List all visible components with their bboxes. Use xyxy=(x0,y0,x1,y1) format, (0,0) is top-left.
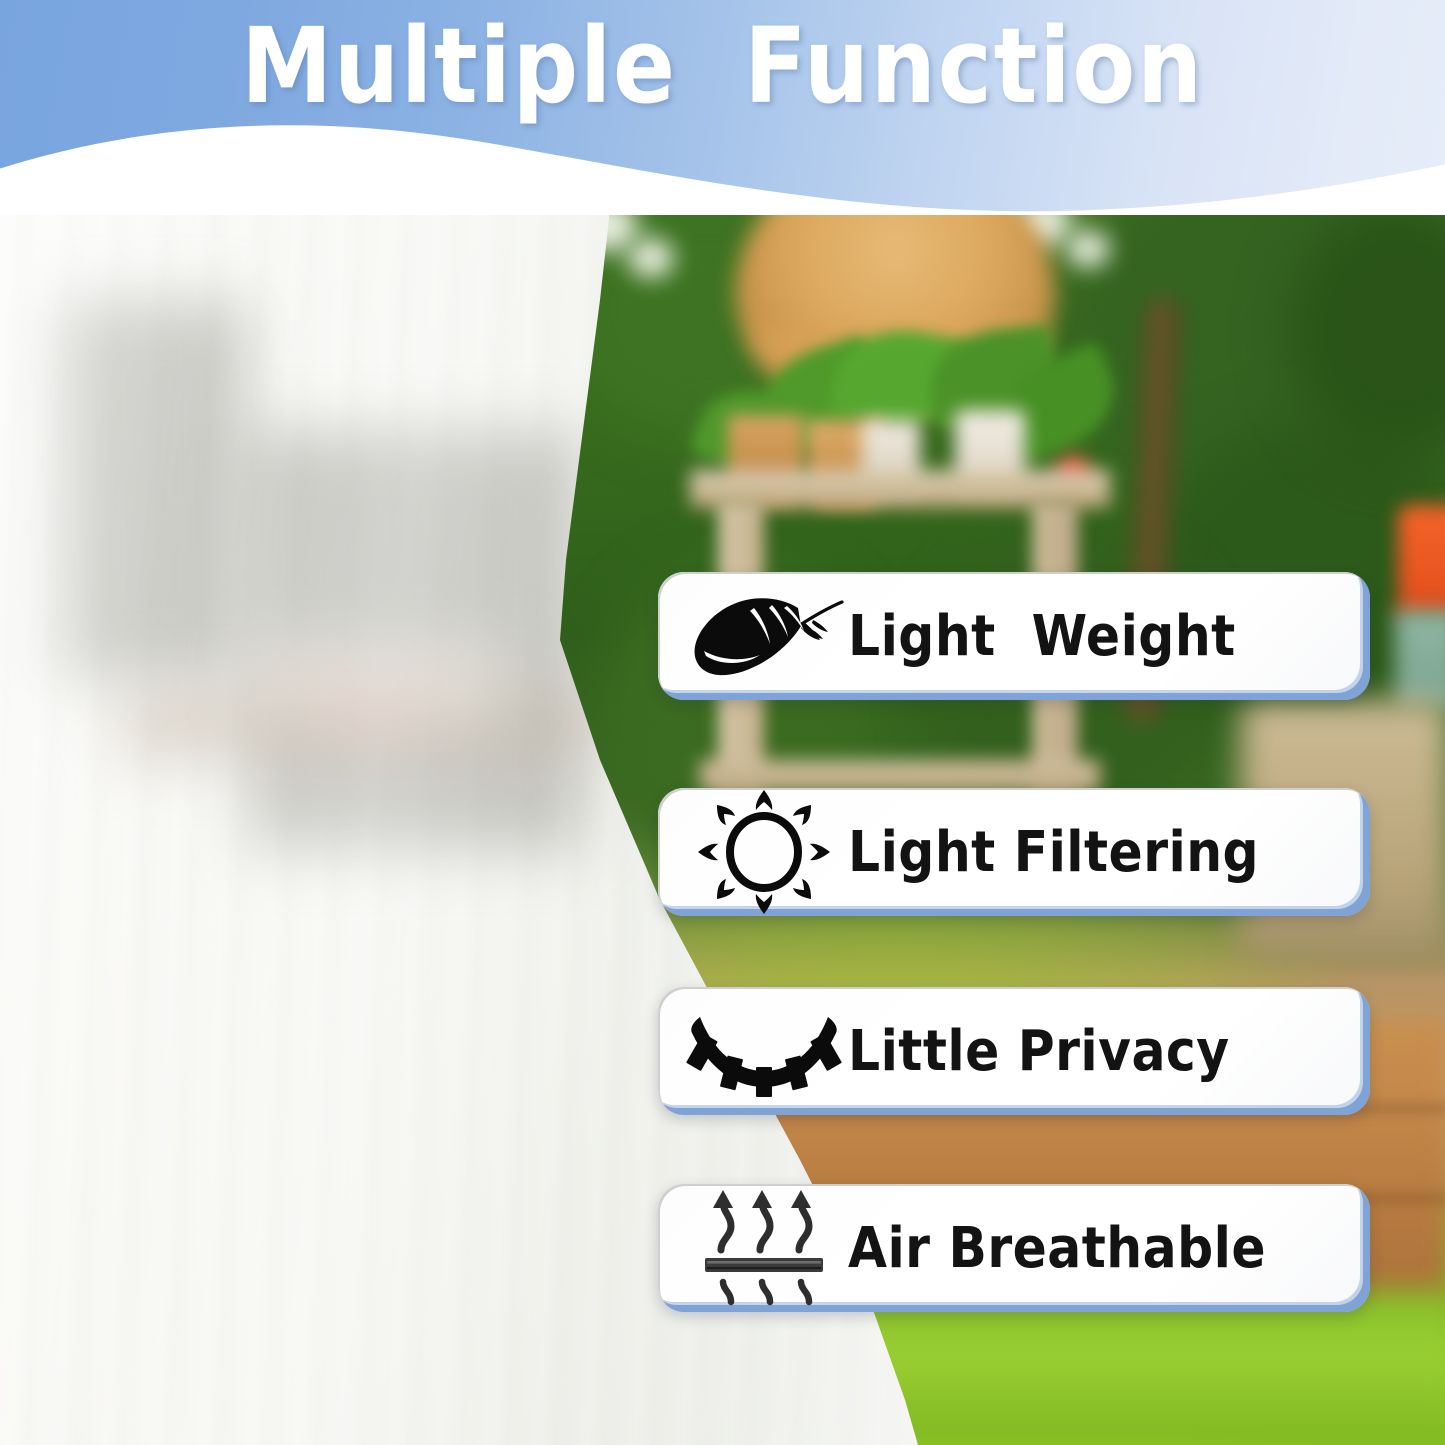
feature-label: Light Filtering xyxy=(848,820,1318,885)
feature-card-light-filtering[interactable]: Light Filtering xyxy=(658,788,1370,916)
closed-eye-icon-svg xyxy=(686,1005,842,1097)
product-feature-graphic: Multiple Function xyxy=(0,0,1445,1445)
closed-eye-icon xyxy=(680,1005,848,1097)
feature-label: Little Privacy xyxy=(848,1019,1318,1084)
sun-icon xyxy=(680,786,848,918)
sun-icon-svg xyxy=(694,786,834,918)
feature-card-light-weight[interactable]: Light Weight xyxy=(658,572,1370,700)
feature-label: Light Weight xyxy=(848,604,1318,669)
feature-card-air-breathable[interactable]: Air Breathable xyxy=(658,1184,1370,1312)
airflow-icon xyxy=(680,1186,848,1310)
feature-card-little-privacy[interactable]: Little Privacy xyxy=(658,987,1370,1115)
feather-icon-svg xyxy=(680,588,848,684)
feature-label: Air Breathable xyxy=(848,1216,1318,1281)
feather-icon xyxy=(680,588,848,684)
feature-card-list: Light Weight xyxy=(0,0,1445,1445)
airflow-icon-svg xyxy=(697,1186,831,1310)
